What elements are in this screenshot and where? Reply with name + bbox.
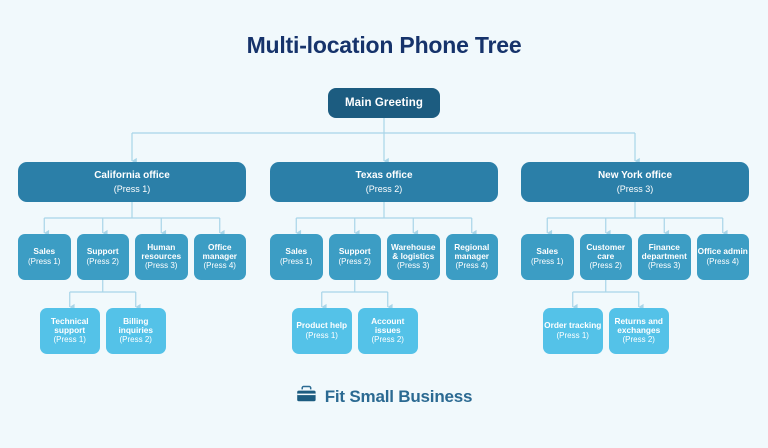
node-option-returns-and-exchanges[interactable]: Returns and exchanges(Press 2) — [609, 308, 669, 354]
node-department-sales[interactable]: Sales(Press 1) — [270, 234, 323, 280]
footer-logo: Fit Small Business — [0, 385, 768, 409]
node-label: Customer care — [580, 243, 633, 262]
node-label: Sales — [285, 247, 307, 256]
node-department-regional-manager[interactable]: Regional manager(Press 4) — [446, 234, 499, 280]
node-department-sales[interactable]: Sales(Press 1) — [18, 234, 71, 280]
node-label: New York office — [598, 170, 672, 181]
node-press-key: (Press 1) — [114, 184, 151, 194]
node-label: Order tracking — [544, 321, 601, 330]
node-label: Texas office — [355, 170, 412, 181]
briefcase-icon — [296, 385, 318, 409]
node-label: Main Greeting — [345, 97, 423, 110]
node-office-california-office[interactable]: California office(Press 1) — [18, 162, 246, 202]
node-press-key: (Press 1) — [28, 258, 60, 267]
node-option-order-tracking[interactable]: Order tracking(Press 1) — [543, 308, 603, 354]
node-label: Warehouse & logistics — [387, 243, 440, 262]
node-press-key: (Press 3) — [145, 262, 177, 271]
node-press-key: (Press 1) — [280, 258, 312, 267]
node-label: Human resources — [135, 243, 188, 262]
node-option-product-help[interactable]: Product help(Press 1) — [292, 308, 352, 354]
node-press-key: (Press 2) — [372, 336, 404, 345]
node-press-key: (Press 2) — [366, 184, 403, 194]
node-label: Support — [87, 247, 119, 256]
node-label: Account issues — [358, 317, 418, 336]
node-department-human-resources[interactable]: Human resources(Press 3) — [135, 234, 188, 280]
node-press-key: (Press 1) — [54, 336, 86, 345]
node-department-support[interactable]: Support(Press 2) — [329, 234, 382, 280]
node-press-key: (Press 2) — [339, 258, 371, 267]
node-department-office-admin[interactable]: Office admin(Press 4) — [697, 234, 750, 280]
phone-tree-diagram: Multi-location Phone Tree Main GreetingC… — [0, 0, 768, 448]
node-press-key: (Press 2) — [590, 262, 622, 271]
node-press-key: (Press 2) — [120, 336, 152, 345]
node-office-new-york-office[interactable]: New York office(Press 3) — [521, 162, 749, 202]
node-option-technical-support[interactable]: Technical support(Press 1) — [40, 308, 100, 354]
node-department-sales[interactable]: Sales(Press 1) — [521, 234, 574, 280]
page-title: Multi-location Phone Tree — [0, 32, 768, 59]
node-department-customer-care[interactable]: Customer care(Press 2) — [580, 234, 633, 280]
node-department-support[interactable]: Support(Press 2) — [77, 234, 130, 280]
node-office-texas-office[interactable]: Texas office(Press 2) — [270, 162, 498, 202]
node-press-key: (Press 3) — [397, 262, 429, 271]
node-label: Office manager — [194, 243, 247, 262]
node-press-key: (Press 4) — [707, 258, 739, 267]
brand-name: Fit Small Business — [325, 387, 473, 407]
node-option-billing-inquiries[interactable]: Billing inquiries(Press 2) — [106, 308, 166, 354]
node-department-office-manager[interactable]: Office manager(Press 4) — [194, 234, 247, 280]
node-main-greeting[interactable]: Main Greeting — [328, 88, 440, 118]
node-press-key: (Press 1) — [306, 332, 338, 341]
node-press-key: (Press 3) — [648, 262, 680, 271]
node-press-key: (Press 1) — [557, 332, 589, 341]
node-press-key: (Press 4) — [204, 262, 236, 271]
node-label: Finance department — [638, 243, 691, 262]
node-label: Product help — [296, 321, 347, 330]
connector-lines — [0, 0, 768, 448]
node-press-key: (Press 2) — [87, 258, 119, 267]
node-label: Returns and exchanges — [609, 317, 669, 336]
node-label: Billing inquiries — [106, 317, 166, 336]
node-press-key: (Press 3) — [617, 184, 654, 194]
node-label: Regional manager — [446, 243, 499, 262]
node-label: Technical support — [40, 317, 100, 336]
node-label: Office admin — [698, 247, 748, 256]
node-label: California office — [94, 170, 170, 181]
node-press-key: (Press 2) — [623, 336, 655, 345]
node-option-account-issues[interactable]: Account issues(Press 2) — [358, 308, 418, 354]
node-label: Sales — [33, 247, 55, 256]
node-label: Sales — [536, 247, 558, 256]
node-press-key: (Press 4) — [456, 262, 488, 271]
node-department-warehouse-logistics[interactable]: Warehouse & logistics(Press 3) — [387, 234, 440, 280]
node-press-key: (Press 1) — [531, 258, 563, 267]
node-label: Support — [339, 247, 371, 256]
node-department-finance-department[interactable]: Finance department(Press 3) — [638, 234, 691, 280]
